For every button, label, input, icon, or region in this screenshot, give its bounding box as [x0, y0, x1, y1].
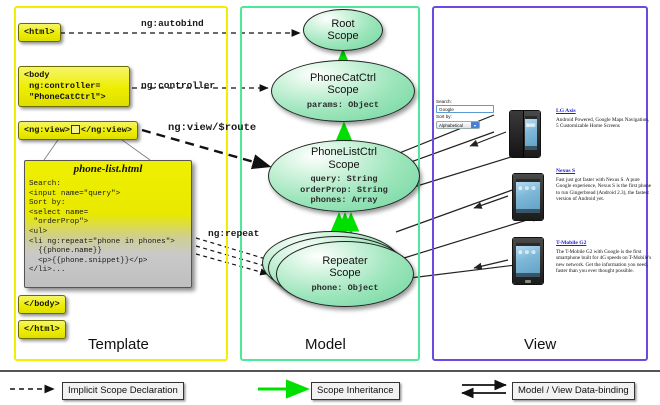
phone-thumbnail-t-mobile-g2 — [512, 237, 544, 285]
phone-screen — [516, 243, 540, 277]
scope-phonelistctrl: PhoneListCtrl Scope query: String orderP… — [268, 140, 420, 212]
legend-label-implicit-scope: Implicit Scope Declaration — [62, 382, 184, 400]
phone-link-nexus-s[interactable]: Nexus S — [556, 168, 652, 175]
tag-body-close: </body> — [18, 295, 66, 314]
phone-app-icons — [526, 121, 536, 135]
tag-ngview-close: </ng:view> — [81, 125, 132, 135]
scope-phonelistctrl-props: query: String orderProp: String phones: … — [300, 174, 388, 206]
sort-label: Sort by: — [436, 114, 498, 120]
phone-dock — [516, 273, 540, 277]
scope-repeater: Repeater Scope phone: Object — [276, 241, 414, 307]
label-ng-view-route: ng:view/$route — [168, 122, 256, 134]
scope-phonecatctrl-props: params: Object — [307, 100, 379, 111]
phone-link-lg-axis[interactable]: LG Axis — [556, 108, 652, 115]
phone-app-icons — [517, 248, 539, 262]
tag-ngview: <ng:view></ng:view> — [18, 121, 138, 140]
view-search-widget: Search: Google Sort by: Alphabetical ▾ — [436, 99, 498, 129]
column-label-template: Template — [88, 336, 149, 353]
legend-label-data-binding: Model / View Data-binding — [512, 382, 635, 400]
phone-dock — [525, 146, 537, 150]
phone-statusbar — [516, 179, 540, 182]
phone-thumbnail-nexus-s — [512, 173, 544, 221]
legend: Implicit Scope Declaration Scope Inherit… — [0, 370, 660, 405]
sort-select-value: Alphabetical — [439, 123, 463, 128]
template-callout-phone-list: phone-list.html Search: <input name="que… — [24, 160, 192, 288]
scope-repeater-title: Repeater Scope — [322, 255, 367, 280]
search-input[interactable]: Google — [436, 105, 494, 113]
ngview-placeholder-square — [71, 125, 80, 134]
label-ng-autobind: ng:autobind — [141, 18, 204, 29]
phone-app-icons — [517, 184, 539, 198]
phone-snippet-t-mobile-g2: The T-Mobile G2 with Google is the first… — [556, 249, 652, 275]
label-ng-repeat: ng:repeat — [208, 228, 259, 239]
phone-list-item-1: LG Axis Android Powered, Google Maps Nav… — [556, 108, 652, 130]
phone-snippet-lg-axis: Android Powered, Google Maps Navigation,… — [556, 117, 652, 130]
phone-home-button — [525, 280, 531, 283]
tag-html-open: <html> — [18, 23, 61, 42]
column-label-view: View — [524, 336, 556, 353]
column-label-model: Model — [305, 336, 346, 353]
phone-link-t-mobile-g2[interactable]: T-Mobile G2 — [556, 240, 652, 247]
callout-code: Search: <input name="query"> Sort by: <s… — [29, 180, 189, 276]
phone-statusbar — [525, 116, 537, 119]
phone-keyboard — [510, 111, 524, 157]
phone-screen — [525, 116, 537, 150]
callout-title: phone-list.html — [25, 163, 191, 175]
scope-root: Root Scope — [303, 9, 383, 51]
sort-select[interactable]: Alphabetical ▾ — [436, 121, 480, 129]
chevron-down-icon: ▾ — [471, 122, 479, 128]
legend-label-scope-inheritance: Scope Inheritance — [311, 382, 400, 400]
tag-html-close: </html> — [18, 320, 66, 339]
diagram-canvas: Template Model View <html> <body ng:cont… — [0, 0, 660, 405]
scope-phonecatctrl: PhoneCatCtrl Scope params: Object — [271, 60, 415, 122]
label-ng-controller: ng:controller — [141, 80, 215, 91]
phone-list-item-3: T-Mobile G2 The T-Mobile G2 with Google … — [556, 240, 652, 275]
phone-screen — [516, 179, 540, 213]
scope-phonecatctrl-title: PhoneCatCtrl Scope — [310, 72, 376, 97]
phone-list-item-2: Nexus S Fast just got faster with Nexus … — [556, 168, 652, 203]
scope-repeater-props: phone: Object — [311, 283, 378, 294]
phone-dock — [516, 209, 540, 213]
scope-phonelistctrl-title: PhoneListCtrl Scope — [311, 146, 377, 171]
phone-snippet-nexus-s: Fast just got faster with Nexus S. A pur… — [556, 177, 652, 203]
phone-statusbar — [516, 243, 540, 246]
tag-body-open: <body ng:controller= "PhoneCatCtrl"> — [18, 66, 130, 107]
phone-thumbnail-lg-axis — [509, 110, 541, 158]
tag-ngview-open: <ng:view> — [24, 125, 70, 135]
scope-root-title: Root Scope — [327, 18, 358, 43]
